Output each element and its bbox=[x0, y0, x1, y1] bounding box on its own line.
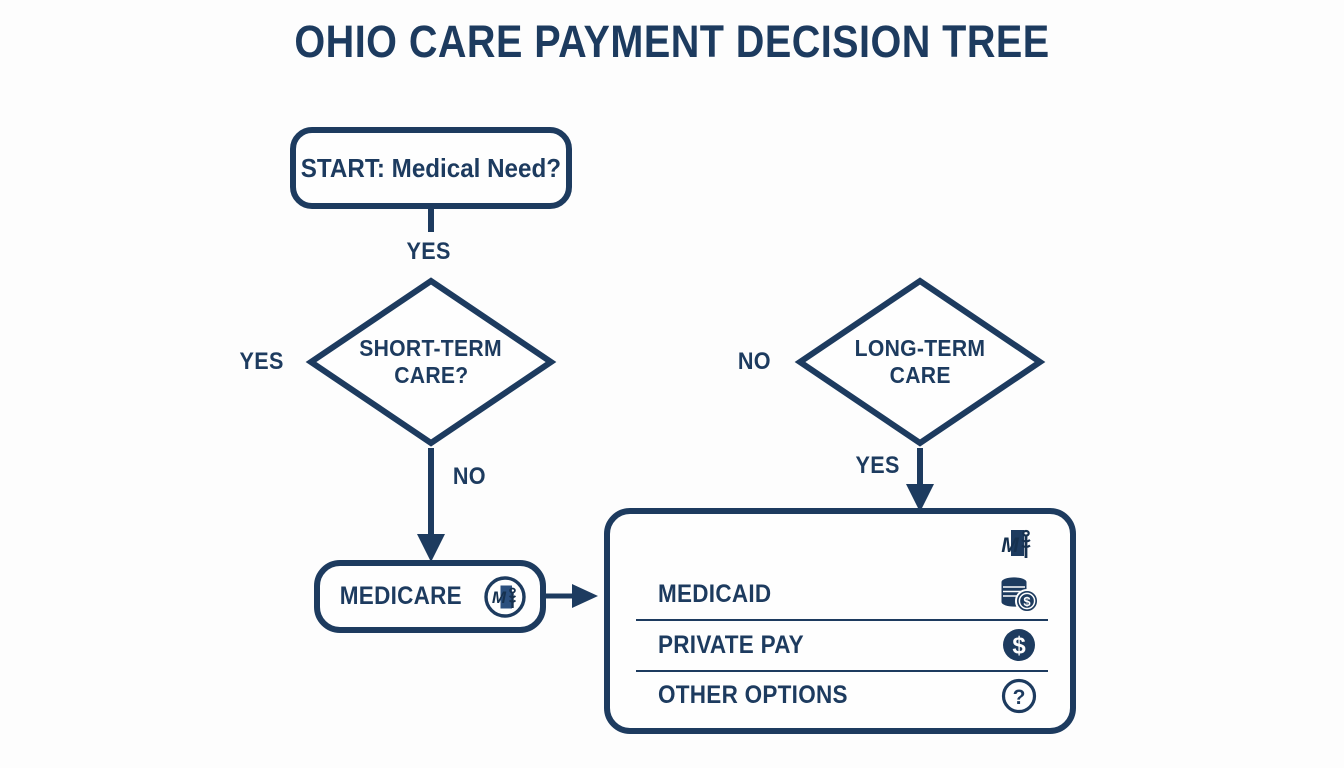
decision-tree-diagram: OHIO CARE PAYMENT DECISION TREE START: M… bbox=[0, 0, 1344, 768]
edge-label-short-term-no: NO bbox=[453, 463, 486, 491]
card-row[interactable]: MEDICAID $ bbox=[636, 571, 1048, 622]
medicare-badge-icon: M bbox=[483, 575, 527, 619]
node-medicare-label: MEDICARE bbox=[340, 582, 462, 611]
option-label-private-pay: PRIVATE PAY bbox=[658, 631, 804, 660]
card-row[interactable]: PRIVATE PAY $ bbox=[636, 621, 1048, 672]
svg-text:M: M bbox=[492, 588, 507, 607]
medicare-monogram-icon: M bbox=[996, 523, 1042, 569]
node-start[interactable]: START: Medical Need? bbox=[290, 127, 572, 209]
edge-label-start-yes: YES bbox=[406, 238, 450, 266]
svg-text:$: $ bbox=[1012, 633, 1026, 660]
edge-label-long-term-yes: YES bbox=[855, 452, 899, 480]
question-circle-icon: ? bbox=[996, 673, 1042, 719]
node-start-label: START: Medical Need? bbox=[301, 153, 561, 184]
svg-text:?: ? bbox=[1013, 686, 1026, 709]
payment-options-card: M MEDICAID bbox=[604, 508, 1076, 734]
edge-label-long-term-no: NO bbox=[738, 348, 771, 376]
option-label-other-options: OTHER OPTIONS bbox=[658, 681, 848, 710]
edge-label-short-term-yes: YES bbox=[239, 348, 283, 376]
svg-text:M: M bbox=[1001, 534, 1019, 557]
node-long-term-care[interactable]: LONG-TERM CARE bbox=[795, 276, 1045, 448]
node-medicare[interactable]: MEDICARE M bbox=[314, 560, 546, 633]
dollar-circle-icon: $ bbox=[996, 622, 1042, 668]
card-row[interactable]: OTHER OPTIONS ? bbox=[636, 672, 1048, 721]
option-label-medicaid: MEDICAID bbox=[658, 580, 771, 609]
coin-stack-icon: $ bbox=[996, 572, 1042, 618]
svg-text:$: $ bbox=[1023, 594, 1031, 609]
card-row[interactable]: M bbox=[636, 522, 1048, 571]
node-short-term-care[interactable]: SHORT-TERM CARE? bbox=[306, 276, 556, 448]
